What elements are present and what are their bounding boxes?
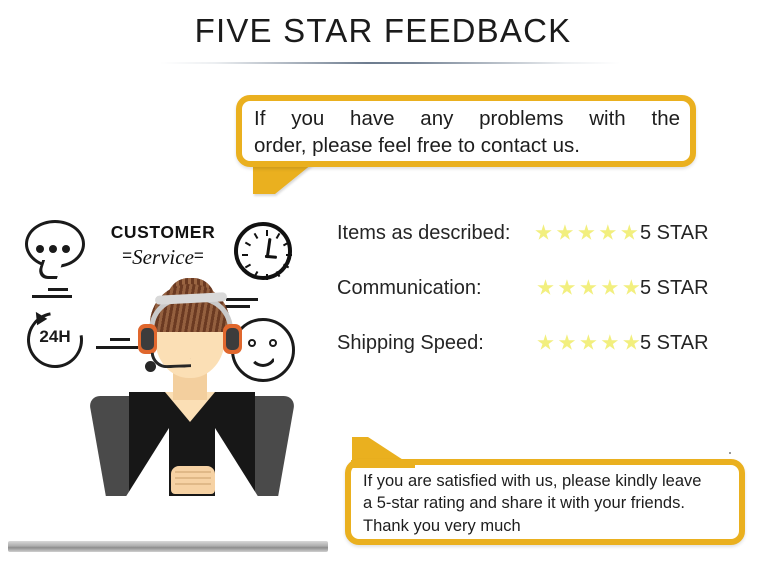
review-request-bubble: If you are satisfied with us, please kin… bbox=[345, 459, 745, 545]
star-icon bbox=[601, 334, 618, 351]
title-divider bbox=[160, 62, 620, 64]
review-request-line-3: Thank you very much bbox=[363, 515, 729, 537]
star-icon bbox=[556, 224, 573, 241]
headset-earcup-left bbox=[138, 324, 157, 354]
headset-earcup-right bbox=[223, 324, 242, 354]
logo-line-service: =Service= bbox=[98, 245, 228, 270]
rating-stars bbox=[535, 224, 638, 242]
star-icon bbox=[601, 279, 618, 296]
rating-row: Items as described: 5 STAR bbox=[337, 222, 747, 277]
rating-value: 5 STAR bbox=[640, 332, 709, 355]
chat-dots-icon bbox=[25, 220, 87, 278]
star-icon bbox=[623, 334, 640, 351]
review-request-line-2: a 5-star rating and share it with your f… bbox=[363, 492, 729, 514]
star-icon bbox=[580, 334, 597, 351]
rating-row: Shipping Speed: 5 STAR bbox=[337, 332, 747, 387]
clock-icon bbox=[234, 222, 296, 284]
24h-support-icon: 24H bbox=[25, 310, 89, 372]
support-message-line-2: order, please feel free to contact us. bbox=[254, 134, 580, 157]
agent-hands bbox=[171, 466, 215, 494]
support-message-bubble: If you have any problems with the order,… bbox=[236, 95, 696, 167]
rating-stars bbox=[537, 279, 640, 297]
clock-face bbox=[234, 222, 292, 280]
feedback-banner: FIVE STAR FEEDBACK If you have any probl… bbox=[0, 0, 766, 564]
divider-dash bbox=[32, 295, 72, 298]
customer-service-agent-illustration bbox=[95, 280, 295, 510]
star-icon bbox=[535, 224, 552, 241]
star-icon bbox=[580, 279, 597, 296]
support-message-line-1: If you have any problems with the bbox=[254, 105, 680, 132]
desk-surface bbox=[8, 541, 328, 552]
logo-line-customer: CUSTOMER bbox=[98, 222, 228, 243]
stray-dot bbox=[729, 452, 731, 454]
rating-stars bbox=[537, 334, 640, 352]
illustration-cluster: 24H CUSTOMER =Service= bbox=[0, 200, 340, 564]
star-icon bbox=[621, 224, 638, 241]
support-message-text: If you have any problems with the order,… bbox=[254, 105, 680, 159]
rating-label: Items as described: bbox=[337, 222, 510, 245]
rating-value: 5 STAR bbox=[640, 277, 709, 300]
logo-mark-right: = bbox=[194, 246, 204, 265]
bottom-bubble-tail-join bbox=[351, 460, 415, 468]
page-title: FIVE STAR FEEDBACK bbox=[0, 12, 766, 50]
star-icon bbox=[537, 279, 554, 296]
customer-service-logo: CUSTOMER =Service= bbox=[98, 222, 228, 276]
divider-dash bbox=[48, 288, 68, 291]
chat-bubble-tail bbox=[36, 260, 63, 279]
rating-label: Communication: bbox=[337, 277, 482, 300]
star-icon bbox=[599, 224, 616, 241]
star-icon bbox=[537, 334, 554, 351]
logo-service-word: Service bbox=[132, 245, 194, 269]
rating-row: Communication: 5 STAR bbox=[337, 277, 747, 332]
star-icon bbox=[623, 279, 640, 296]
rating-label: Shipping Speed: bbox=[337, 332, 484, 355]
ratings-list: Items as described: 5 STAR Communication… bbox=[337, 222, 747, 387]
star-icon bbox=[578, 224, 595, 241]
logo-mark-left: = bbox=[122, 246, 132, 265]
24h-label: 24H bbox=[25, 327, 85, 347]
rating-value: 5 STAR bbox=[640, 222, 709, 245]
headset-mic-arm bbox=[151, 351, 192, 368]
chat-dots bbox=[36, 240, 75, 258]
star-icon bbox=[558, 334, 575, 351]
headset-mic-tip bbox=[145, 361, 156, 372]
review-request-text: If you are satisfied with us, please kin… bbox=[363, 470, 729, 537]
review-request-line-1: If you are satisfied with us, please kin… bbox=[363, 470, 729, 492]
star-icon bbox=[558, 279, 575, 296]
